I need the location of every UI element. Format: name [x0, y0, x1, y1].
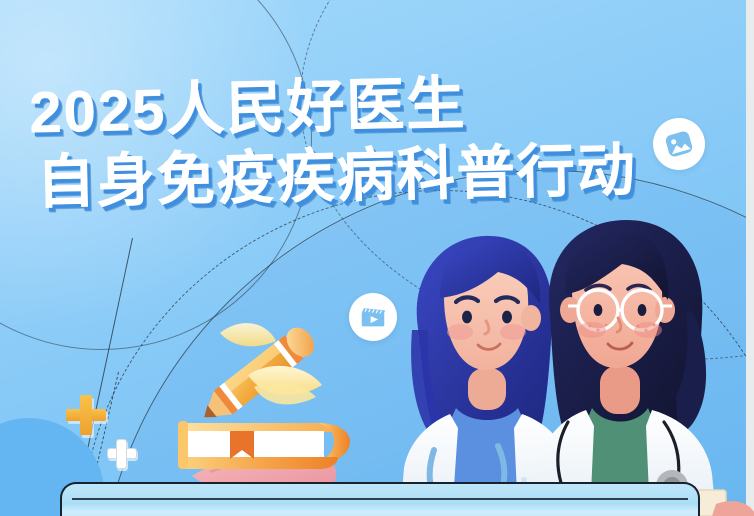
book-pages [188, 431, 324, 459]
doctor-left-neck [468, 368, 506, 410]
campaign-banner: 2025人民好医生 自身免疫疾病科普行动 [0, 0, 754, 516]
plus-white-icon [108, 440, 136, 468]
title-line-one: 2025人民好医生 [29, 72, 636, 143]
doctor-left-eye-right [502, 311, 512, 324]
doctor-right-eye-left [594, 304, 603, 316]
doctor-right [532, 220, 754, 516]
video-badge[interactable] [349, 293, 397, 341]
video-clapperboard-icon [358, 302, 388, 332]
doctors-illustration [400, 218, 754, 516]
book-bottom-cover [182, 457, 338, 469]
doctor-left-ear [521, 305, 541, 331]
plus-orange-icon [66, 395, 106, 435]
open-book [178, 415, 358, 477]
image-icon [659, 124, 699, 164]
device-panel [60, 482, 700, 516]
doctor-right-eye-right [638, 304, 647, 316]
book-top-cover [182, 423, 338, 432]
title-line-two: 自身免疫疾病科普行动 [36, 142, 637, 213]
doctor-left-eye-left [462, 311, 472, 324]
pencil-wing-left [220, 323, 276, 346]
doctor-right-neck [600, 366, 640, 414]
banner-title: 2025人民好医生 自身免疫疾病科普行动 [29, 72, 638, 213]
book-edge [178, 421, 188, 469]
doctor-right-hand [712, 501, 754, 516]
